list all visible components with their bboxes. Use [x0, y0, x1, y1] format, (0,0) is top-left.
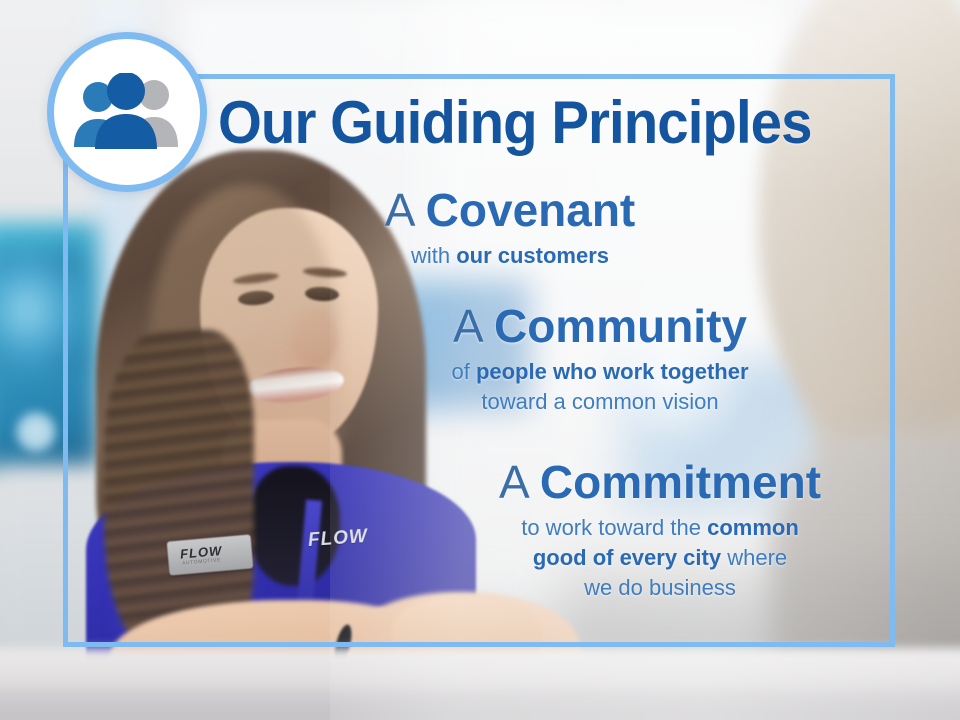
principle-article: A	[499, 456, 527, 508]
sub-line: of people who work together	[370, 357, 830, 387]
sub-normal-before: we do business	[584, 575, 736, 600]
principle-word: Commitment	[540, 456, 821, 508]
page-title: Our Guiding Principles	[218, 93, 838, 153]
sub-line: toward a common vision	[370, 387, 830, 417]
principle-article: A	[453, 300, 481, 352]
sub-bold: good of every city	[533, 545, 721, 570]
sub-bold: our customers	[456, 243, 609, 268]
marketing-graphic: FLOW AUTOMOTIVE FLOW Our Guiding Princip…	[0, 0, 960, 720]
principle-word: Covenant	[426, 184, 636, 236]
sub-normal-before: toward a common vision	[481, 389, 718, 414]
principle-subtext-community: of people who work together toward a com…	[370, 357, 830, 417]
principle-subtext-commitment: to work toward the common good of every …	[440, 513, 880, 603]
sub-normal-before: of	[451, 359, 475, 384]
sub-line: good of every city where	[440, 543, 880, 573]
principle-block-commitment: A Commitment to work toward the common g…	[440, 458, 880, 602]
principle-headline-commitment: A Commitment	[440, 458, 880, 507]
employee-undershirt	[248, 466, 340, 586]
showroom-display-vehicle	[0, 250, 82, 370]
sub-bold: common	[707, 515, 799, 540]
people-group-icon	[68, 73, 186, 151]
principle-block-community: A Community of people who work together …	[370, 302, 830, 417]
principle-headline-community: A Community	[370, 302, 830, 351]
principle-article: A	[385, 184, 413, 236]
sub-bold: people who work together	[476, 359, 749, 384]
sub-normal-before: with	[411, 243, 456, 268]
sub-normal-before: to work toward the	[521, 515, 707, 540]
people-group-badge	[47, 32, 207, 192]
principle-headline-covenant: A Covenant	[330, 186, 690, 235]
principle-block-covenant: A Covenant with our customers	[330, 186, 690, 270]
sub-line: we do business	[440, 573, 880, 603]
principle-word: Community	[494, 300, 747, 352]
desk-front-edge	[0, 690, 960, 720]
principle-subtext-covenant: with our customers	[330, 241, 690, 270]
showroom-brand-emblem	[16, 412, 56, 452]
sub-line: to work toward the common	[440, 513, 880, 543]
employee-chest-logo: FLOW	[307, 526, 368, 552]
sub-normal-after: where	[721, 545, 787, 570]
